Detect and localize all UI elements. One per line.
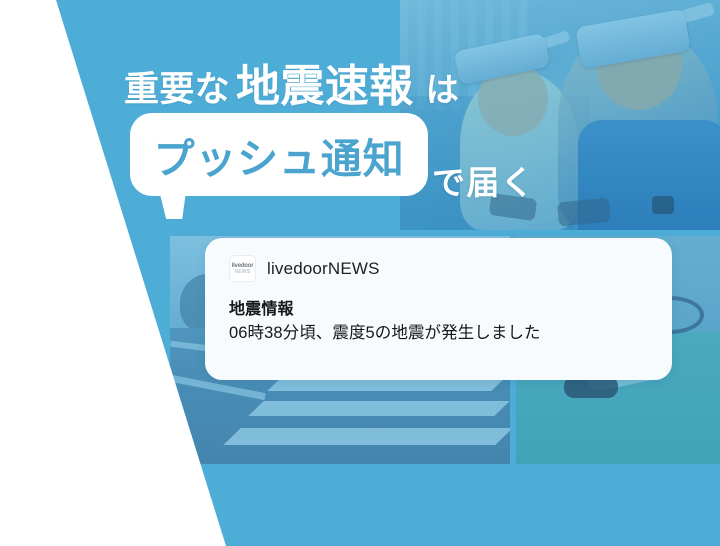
headline-emphasis: 地震速報 [236,50,414,114]
headline: 重要な 地震速報 は [124,50,459,114]
notification-title: 地震情報 [229,295,294,319]
notification-app-name: livedoorNEWS [267,259,380,279]
notification-header: livedoor NEWS livedoorNEWS [229,255,380,282]
app-icon-line1: livedoor [232,263,254,269]
headline-tail: は [426,63,459,111]
speech-bubble-label: プッシュ通知 [154,125,405,185]
deliver-text: で届く [432,156,535,204]
push-notification-card[interactable]: livedoor NEWS livedoorNEWS 地震情報 06時38分頃、… [205,238,672,380]
app-icon-line2: NEWS [234,270,250,275]
headline-lead: 重要な [124,61,230,112]
livedoor-news-app-icon: livedoor NEWS [229,255,256,282]
notification-body: 06時38分頃、震度5の地震が発生しました [229,319,541,343]
speech-bubble: プッシュ通知 [130,113,428,196]
promo-banner: 重要な 地震速報 は プッシュ通知 で届く livedoor NEWS live… [0,0,720,546]
